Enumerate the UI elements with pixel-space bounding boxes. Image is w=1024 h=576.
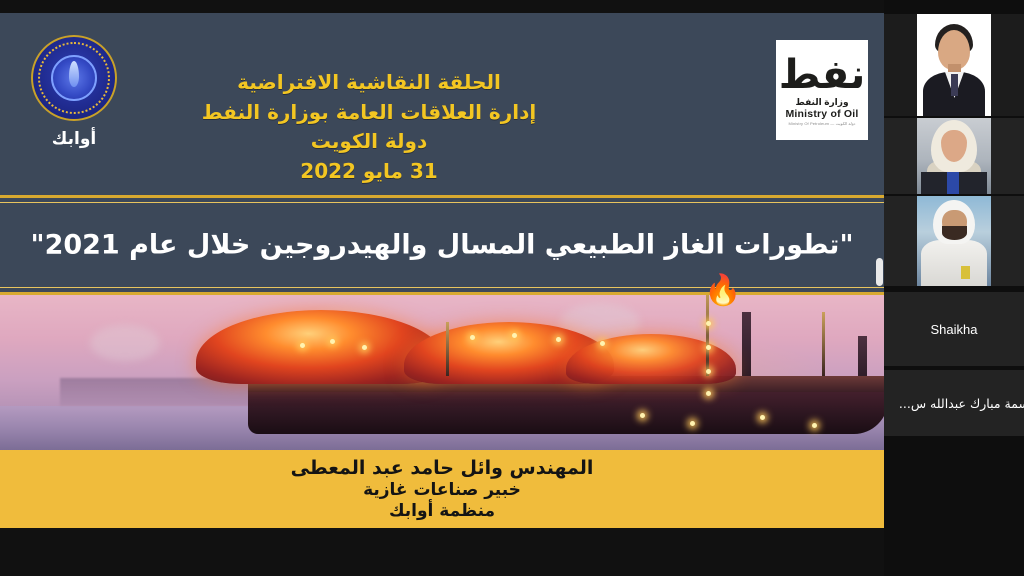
speaker-name: المهندس وائل حامد عبد المعطى <box>291 457 594 479</box>
participant-video-tile[interactable] <box>884 14 1024 116</box>
flame-emoji-icon: 🔥 <box>704 271 738 311</box>
avatar-tie <box>951 74 958 96</box>
participant-name: بسمة مبارك عبدالله س... <box>899 396 1024 411</box>
deck-light <box>330 339 335 344</box>
speaker-banner: المهندس وائل حامد عبد المعطى خبير صناعات… <box>0 450 884 528</box>
deck-light <box>470 335 475 340</box>
slide-header: أوابك الحلقة النقاشية الافتراضية إدارة ا… <box>0 13 884 195</box>
meeting-window: أوابك الحلقة النقاشية الافتراضية إدارة ا… <box>0 0 1024 576</box>
tower-light <box>706 345 711 350</box>
participant-name-tile[interactable]: Shaikha <box>884 292 1024 366</box>
avatar-beard <box>942 226 967 240</box>
shared-screen-region[interactable]: أوابك الحلقة النقاشية الافتراضية إدارة ا… <box>0 0 884 576</box>
slide-header-text: الحلقة النقاشية الافتراضية إدارة العلاقا… <box>154 68 584 186</box>
speaker-role: خبير صناعات غازية <box>363 480 521 500</box>
ship-mast <box>446 322 449 376</box>
quay-light <box>640 413 645 418</box>
presentation-slide: أوابك الحلقة النقاشية الافتراضية إدارة ا… <box>0 13 884 528</box>
deck-light <box>300 343 305 348</box>
quay-light <box>812 423 817 428</box>
oapec-emblem-icon <box>31 35 117 121</box>
tower-light <box>706 321 711 326</box>
deck-light <box>556 337 561 342</box>
oapec-flame-icon <box>69 61 79 87</box>
ministry-of-oil-logo: نفط وزارة النفط Ministry of Oil Ministry… <box>776 40 868 140</box>
header-line-4: 31 مايو 2022 <box>154 157 584 187</box>
deck-light <box>600 341 605 346</box>
avatar-id-badge <box>961 266 970 279</box>
tower-light <box>706 391 711 396</box>
participant-name-tile[interactable]: بسمة مبارك عبدالله س... <box>884 370 1024 436</box>
header-line-2: إدارة العلاقات العامة بوزارة النفط <box>154 98 584 128</box>
header-line-1: الحلقة النقاشية الافتراضية <box>154 68 584 98</box>
deck-light <box>362 345 367 350</box>
share-panel-drag-handle[interactable] <box>876 258 883 286</box>
ministry-name-arabic: وزارة النفط <box>795 97 848 108</box>
participant-sidebar[interactable]: Shaikha بسمة مبارك عبدالله س... <box>884 0 1024 576</box>
deck-light <box>512 333 517 338</box>
oapec-logo-word: أوابك <box>24 129 124 149</box>
avatar <box>917 118 991 194</box>
participant-name: Shaikha <box>931 322 978 337</box>
slide-title: "تطورات الغاز الطبيعي المسال والهيدروجين… <box>0 230 884 261</box>
smoke-plume <box>90 325 160 361</box>
slide-title-band: "تطورات الغاز الطبيعي المسال والهيدروجين… <box>0 195 884 295</box>
speaker-organization: منظمة أوابك <box>389 501 495 521</box>
ship-mast <box>822 312 825 376</box>
header-line-3: دولة الكويت <box>154 127 584 157</box>
oapec-logo: أوابك <box>24 35 124 149</box>
avatar-thobe <box>921 240 987 286</box>
lng-tanker-hull <box>248 386 884 434</box>
ministry-calligraphy-icon: نفط <box>779 55 866 95</box>
ministry-name-english: Ministry of Oil <box>785 108 858 120</box>
tower-light <box>706 369 711 374</box>
participant-video-tile[interactable] <box>884 196 1024 286</box>
quay-light <box>690 421 695 426</box>
avatar <box>917 14 991 116</box>
quay-light <box>760 415 765 420</box>
avatar <box>917 196 991 286</box>
ministry-subline: Ministry Of Petroleum — دولة الكويت <box>789 121 856 126</box>
participant-video-tile[interactable] <box>884 118 1024 194</box>
slide-photo-lng-terminal <box>0 295 884 450</box>
